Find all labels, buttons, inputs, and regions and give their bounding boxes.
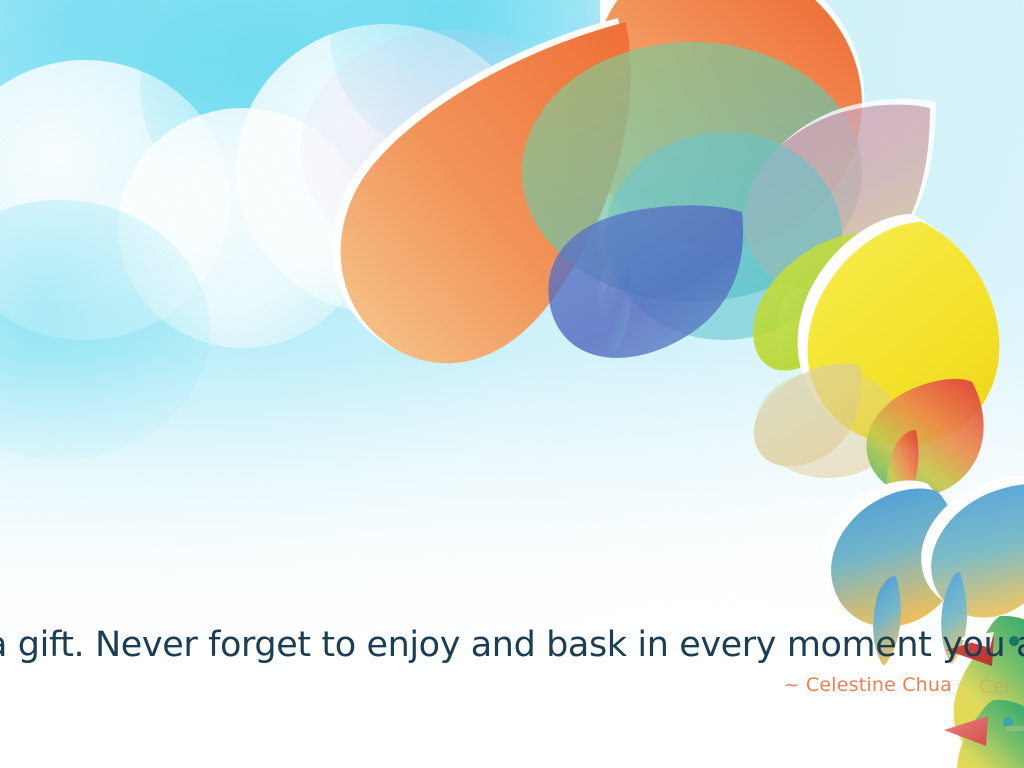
quote-attribution: ~ Celestine Chua	[0, 676, 952, 695]
wallpaper-canvas: Cel a gift. Never forget to enjoy and ba…	[0, 0, 1024, 768]
quote-text: a gift. Never forget to enjoy and bask i…	[0, 628, 996, 663]
